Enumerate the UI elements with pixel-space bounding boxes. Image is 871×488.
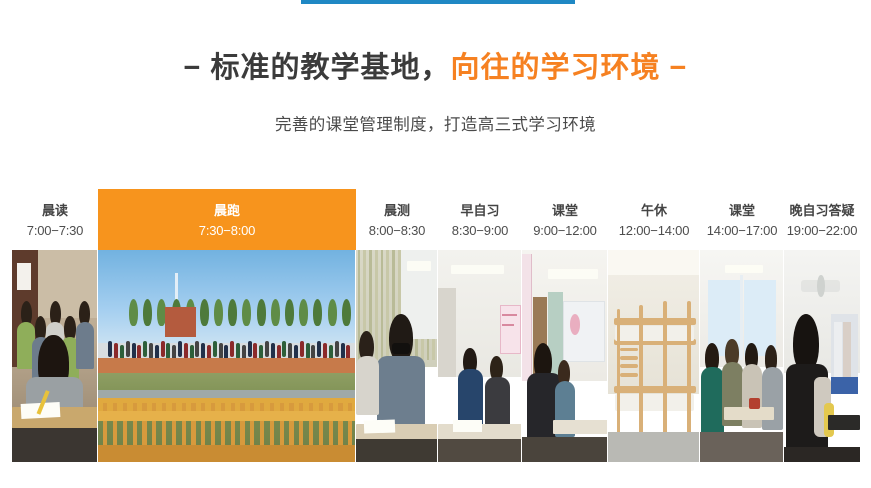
schedule-tab-evening-tutoring[interactable]: 晚自习答疑19:00−22:00 — [784, 189, 860, 250]
schedule-tab-name: 课堂 — [729, 202, 755, 221]
photo-tile-outdoor-track[interactable] — [98, 250, 356, 462]
schedule-tab-time: 7:30−8:00 — [199, 221, 255, 241]
schedule-tab-morning-selfstudy[interactable]: 早自习8:30−9:00 — [438, 189, 522, 250]
top-accent-bar-container — [0, 0, 871, 5]
photo-tile-exam-room[interactable] — [356, 250, 438, 462]
heading-block: − 标准的教学基地，向往的学习环境 − 完善的课堂管理制度，打造高三式学习环境 — [0, 5, 871, 135]
schedule-tab-time: 19:00−22:00 — [787, 221, 857, 241]
page-title-dark-part: − 标准的教学基地， — [184, 52, 451, 84]
photo-tile-classroom-study[interactable] — [12, 250, 98, 462]
schedule-tab-name: 早自习 — [460, 202, 499, 221]
page-title: − 标准的教学基地，向往的学习环境 − — [0, 53, 871, 85]
photo-tile-dormitory[interactable] — [608, 250, 700, 462]
page-subtitle: 完善的课堂管理制度，打造高三式学习环境 — [0, 85, 871, 135]
photo-tile-lecture-room[interactable] — [522, 250, 608, 462]
schedule-tab-row: 晨读7:00−7:30晨跑7:30−8:00晨测8:00−8:30早自习8:30… — [12, 189, 860, 250]
schedule-tab-time: 8:00−8:30 — [369, 221, 425, 241]
schedule-tab-afternoon-class[interactable]: 课堂14:00−17:00 — [700, 189, 784, 250]
schedule-photo-strip — [12, 250, 860, 462]
schedule-tab-dormitory[interactable]: 午休12:00−14:00 — [608, 189, 700, 250]
schedule-tab-classroom-study[interactable]: 晨读7:00−7:30 — [12, 189, 98, 250]
schedule-tab-lecture-room[interactable]: 课堂9:00−12:00 — [522, 189, 608, 250]
schedule-tab-name: 课堂 — [552, 202, 578, 221]
photo-tile-afternoon-class[interactable] — [700, 250, 784, 462]
page-title-accent-part: 向往的学习环境 − — [451, 52, 688, 84]
schedule-tab-name: 晨读 — [42, 202, 68, 221]
schedule-tab-time: 14:00−17:00 — [707, 221, 777, 241]
schedule-tab-name: 午休 — [641, 202, 667, 221]
schedule-tab-outdoor-track[interactable]: 晨跑7:30−8:00 — [98, 189, 356, 250]
top-accent-bar — [301, 0, 575, 4]
schedule-tab-time: 8:30−9:00 — [452, 221, 508, 241]
schedule-tab-time: 9:00−12:00 — [533, 221, 596, 241]
schedule-tab-time: 7:00−7:30 — [27, 221, 83, 241]
schedule-tab-exam-room[interactable]: 晨测8:00−8:30 — [356, 189, 438, 250]
schedule-tab-time: 12:00−14:00 — [619, 221, 689, 241]
photo-tile-evening-tutoring[interactable] — [784, 250, 860, 462]
schedule-tab-name: 晚自习答疑 — [789, 202, 854, 221]
photo-tile-morning-selfstudy[interactable] — [438, 250, 522, 462]
schedule-tab-name: 晨测 — [384, 202, 410, 221]
schedule-tab-name: 晨跑 — [214, 202, 240, 221]
